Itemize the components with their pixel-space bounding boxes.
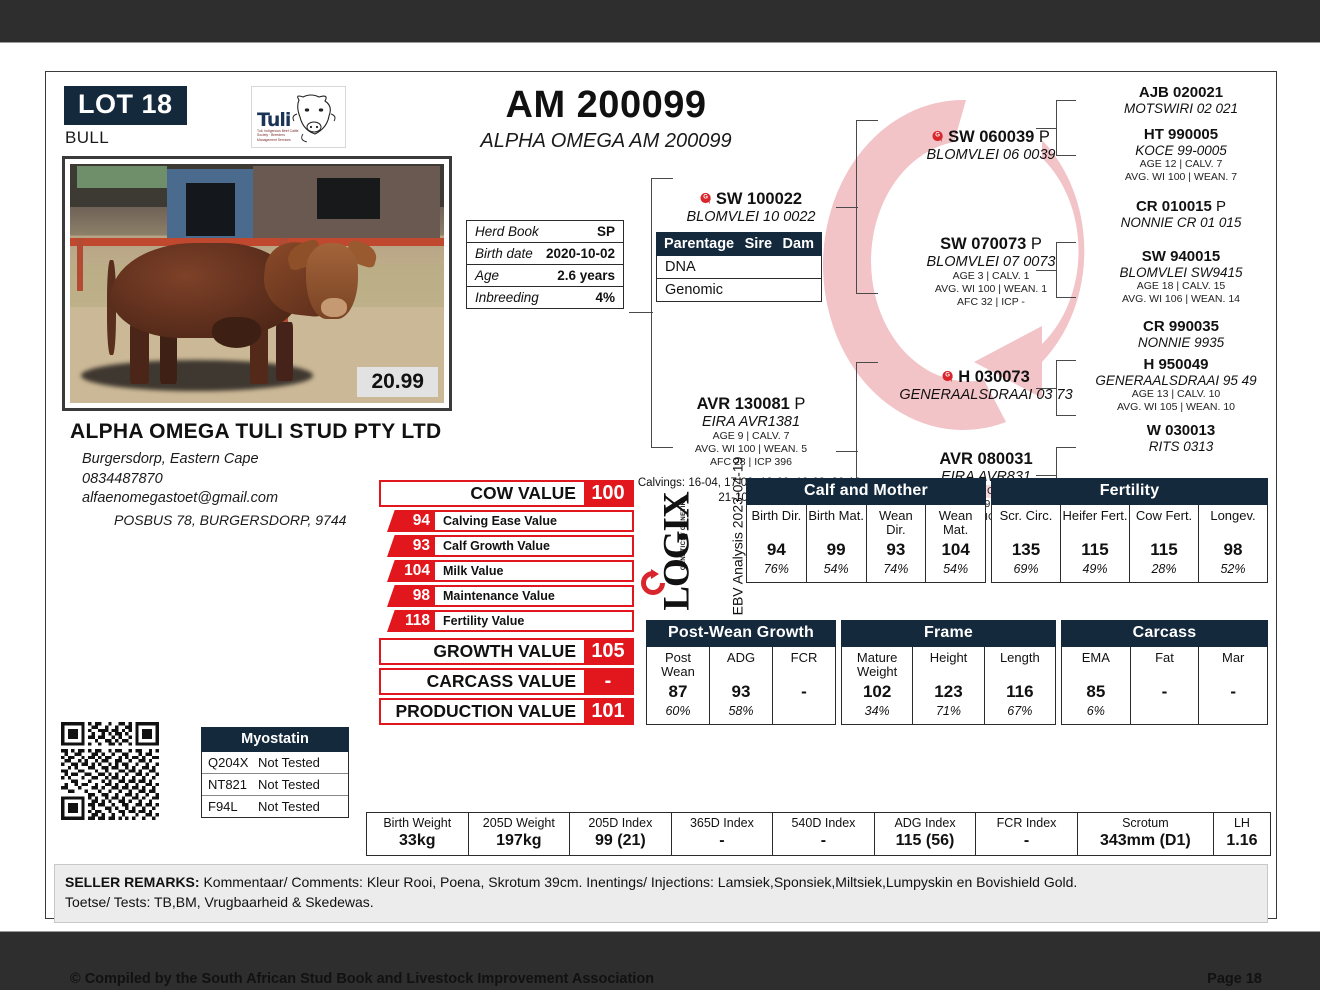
sub-value-calving-ease: 94 Calving Ease Value: [387, 510, 634, 532]
node-id: CR 010015 P: [1086, 198, 1276, 215]
node-stats: AGE 13 | CALV. 10 AVG. WI 105 | WEAN. 10: [1071, 388, 1281, 414]
ebv-col-mature-weight: Mature Weight 102 34%: [842, 647, 913, 724]
pdf-viewer: LOT 18 BULL Tuli Tuli, Indigenous Beef C…: [0, 0, 1320, 990]
node-id: W 030013: [1086, 422, 1276, 439]
ebv-group-carcass: Carcass EMA 85 6% Fat - Mar -: [1061, 620, 1268, 725]
node-name: BLOMVLEI 06 0039: [891, 147, 1091, 163]
carcass-value-label: CARCASS VALUE: [381, 670, 584, 693]
meas-col-lh: LH 1.16: [1214, 813, 1270, 855]
qr-code[interactable]: [61, 722, 159, 820]
meas-col-540d-index: 540D Index -: [773, 813, 875, 855]
marker-name: NT821: [208, 777, 258, 792]
row-value: 4%: [595, 290, 615, 305]
cow-value-label: COW VALUE: [381, 482, 584, 505]
sub-value-number: 118: [387, 610, 435, 632]
myostatin-table: Myostatin Q204X Not Tested NT821 Not Tes…: [201, 727, 349, 818]
growth-value-label: GROWTH VALUE: [381, 640, 584, 663]
ebv-col-fat: Fat -: [1131, 647, 1200, 724]
table-row: NT821 Not Tested: [202, 774, 348, 796]
tuli-logo: Tuli Tuli, Indigenous Beef Cattle Societ…: [251, 86, 346, 148]
pedigree-node-dam-sire: G T H 030073 GENERAALSDRAAI 03 73: [876, 368, 1096, 403]
cow-value-bar: COW VALUE 100: [379, 480, 634, 507]
meas-col-birth-weight: Birth Weight 33kg: [367, 813, 469, 855]
sub-value-fertility: 118 Fertility Value: [387, 610, 634, 632]
table-row: F94L Not Tested: [202, 796, 348, 817]
ebv-group-title: Post-Wean Growth: [646, 620, 836, 647]
node-name: GENERAALSDRAAI 03 73: [876, 387, 1096, 403]
node-id: G T SW 060039 P: [891, 128, 1091, 147]
row-label: Age: [475, 268, 499, 283]
animal-photo-frame: 20.99: [62, 156, 452, 411]
ebv-col-birth-dir: Birth Dir. 94 76%: [747, 505, 807, 582]
growth-value-number: 105: [584, 640, 632, 663]
parentage-sire-col: Sire: [745, 236, 772, 252]
parentage-row-genomic: Genomic: [657, 279, 821, 301]
ebv-group-title: Carcass: [1061, 620, 1268, 647]
node-stats: AGE 9 | CALV. 7 AVG. WI 100 | WEAN. 5 AF…: [636, 430, 866, 469]
svg-text:T: T: [950, 378, 954, 383]
breeder-email: alfaenomegastoet@gmail.com: [82, 489, 278, 509]
logix-ebv-date: EBV Analysis 2023-04-19: [729, 457, 745, 616]
cow-value-number: 100: [584, 482, 632, 505]
row-value: 2.6 years: [557, 268, 615, 283]
breeder-name: ALPHA OMEGA TULI STUD PTY LTD: [70, 420, 442, 444]
parentage-header: Parentage Sire Dam: [656, 232, 822, 256]
animal-photo: 20.99: [70, 164, 444, 403]
parentage-title: Parentage: [664, 236, 734, 252]
ebv-col-ema: EMA 85 6%: [1062, 647, 1131, 724]
ebv-col-mar: Mar -: [1199, 647, 1267, 724]
ebv-col-longev: Longev. 98 52%: [1199, 505, 1267, 582]
ebv-group-title: Frame: [841, 620, 1056, 647]
node-id: AJB 020021: [1086, 84, 1276, 101]
node-name: EIRA AVR1381: [636, 414, 866, 430]
pedigree-node-sire: G T SW 100022 BLOMVLEI 10 0022: [646, 190, 856, 225]
meas-col-scrotum: Scrotum 343mm (D1): [1078, 813, 1214, 855]
table-row: Inbreeding 4%: [467, 287, 623, 308]
breeder-postal-address: POSBUS 78, BURGERSDORP, 9744: [114, 512, 346, 528]
remarks-line-2: Toetse/ Tests: TB,BM, Vrugbaarheid & Ske…: [65, 892, 1257, 912]
logix-logo: LOGIX GENETICS / GENETIKA EBV Analysis 2…: [646, 472, 736, 622]
ebv-group-post-wean-growth: Post-Wean Growth Post Wean 87 60% ADG 93…: [646, 620, 836, 725]
sub-value-label: Milk Value: [435, 560, 634, 582]
myostatin-title: Myostatin: [201, 727, 349, 752]
svg-text:T: T: [940, 138, 944, 143]
carcass-value-bar: CARCASS VALUE -: [379, 668, 634, 695]
production-value-label: PRODUCTION VALUE: [381, 700, 584, 723]
sub-value-number: 94: [387, 510, 435, 532]
herd-book-table: Herd Book SP Birth date 2020-10-02 Age 2…: [466, 220, 624, 309]
node-id: SW 070073 P: [891, 235, 1091, 254]
ebv-col-heifer-fert: Heifer Fert. 115 49%: [1061, 505, 1130, 582]
row-label: Inbreeding: [475, 290, 539, 305]
row-label: Herd Book: [475, 224, 539, 239]
node-id: G T SW 100022: [646, 190, 856, 209]
ebv-col-adg: ADG 93 58%: [710, 647, 773, 724]
ebv-col-birth-mat: Birth Mat. 99 54%: [807, 505, 867, 582]
carcass-value-number: -: [584, 670, 632, 693]
meas-col-365d-index: 365D Index -: [672, 813, 774, 855]
table-row: Birth date 2020-10-02: [467, 243, 623, 265]
node-name: KOCE 99-0005: [1086, 143, 1276, 158]
animal-name: ALPHA OMEGA AM 200099: [396, 130, 816, 153]
footer-copyright: © Compiled by the South African Stud Boo…: [70, 971, 654, 987]
lot-badge: LOT 18: [64, 86, 187, 125]
ebv-col-wean-dir: Wean Dir. 93 74%: [867, 505, 927, 582]
pedigree-node-sire-dam: SW 070073 P BLOMVLEI 07 0073 AGE 3 | CAL…: [891, 235, 1091, 309]
ebv-group-fertility: Fertility Scr. Circ. 135 69% Heifer Fert…: [991, 478, 1268, 583]
meas-col-fcr-index: FCR Index -: [976, 813, 1078, 855]
meas-col-adg-index: ADG Index 115 (56): [875, 813, 977, 855]
node-name: BLOMVLEI 10 0022: [646, 209, 856, 225]
node-id: HT 990005: [1086, 126, 1276, 143]
pedigree-node-ss-sire: AJB 020021 MOTSWIRI 02 021: [1086, 84, 1276, 116]
sub-value-label: Calving Ease Value: [435, 510, 634, 532]
lot-sheet: LOT 18 BULL Tuli Tuli, Indigenous Beef C…: [45, 71, 1277, 919]
sub-value-number: 104: [387, 560, 435, 582]
sex-label: BULL: [65, 128, 109, 148]
pedigree-node-sd-sire: CR 010015 P NONNIE CR 01 015: [1086, 198, 1276, 230]
ebv-group-title: Fertility: [991, 478, 1268, 505]
node-name: NONNIE CR 01 015: [1086, 215, 1276, 230]
sub-value-label: Calf Growth Value: [435, 535, 634, 557]
node-stats: AGE 12 | CALV. 7 AVG. WI 100 | WEAN. 7: [1086, 158, 1276, 184]
node-name: BLOMVLEI SW9415: [1086, 265, 1276, 280]
sub-value-label: Maintenance Value: [435, 585, 634, 607]
logix-circle-arrow-icon: [638, 568, 668, 598]
node-id: AVR 130081 P: [636, 395, 866, 414]
ebv-col-cow-fert: Cow Fert. 115 28%: [1130, 505, 1199, 582]
ebv-group-title: Calf and Mother: [746, 478, 986, 505]
meas-col-205d-weight: 205D Weight 197kg: [469, 813, 571, 855]
pedigree-node-ds-sire: CR 990035 NONNIE 9935: [1086, 318, 1276, 350]
row-label: Birth date: [475, 246, 533, 261]
seller-remarks: SELLER REMARKS: Kommentaar/ Comments: Kl…: [54, 864, 1268, 923]
svg-text:T: T: [708, 200, 712, 205]
parentage-table: Parentage Sire Dam DNA Genomic: [656, 232, 822, 302]
node-id: AVR 080031: [886, 450, 1086, 469]
node-name: GENERAALSDRAAI 95 49: [1071, 373, 1281, 388]
sub-value-milk: 104 Milk Value: [387, 560, 634, 582]
ebv-col-height: Height 123 71%: [913, 647, 984, 724]
catalog-page: LOT 18 BULL Tuli Tuli, Indigenous Beef C…: [0, 42, 1320, 932]
ebv-col-wean-mat: Wean Mat. 104 54%: [926, 505, 985, 582]
pedigree-node-sd-dam: SW 940015 BLOMVLEI SW9415 AGE 18 | CALV.…: [1086, 248, 1276, 306]
remarks-text-1: Kommentaar/ Comments: Kleur Rooi, Poena,…: [200, 874, 1078, 890]
node-name: MOTSWIRI 02 021: [1086, 101, 1276, 116]
node-name: RITS 0313: [1086, 439, 1276, 454]
tuli-wordmark: Tuli: [257, 109, 290, 131]
breeder-contact: Burgersdorp, Eastern Cape 0834487870 alf…: [82, 450, 278, 509]
footer-page-number: Page 18: [1207, 971, 1262, 987]
node-name: BLOMVLEI 07 0073: [891, 254, 1091, 270]
ebv-col-post-wean: Post Wean 87 60%: [647, 647, 710, 724]
node-id: CR 990035: [1086, 318, 1276, 335]
logix-subtext: GENETICS / GENETIKA: [681, 496, 687, 570]
sub-value-maintenance: 98 Maintenance Value: [387, 585, 634, 607]
row-value: SP: [597, 224, 615, 239]
node-id: H 950049: [1071, 356, 1281, 373]
ebv-group-calf-and-mother: Calf and Mother Birth Dir. 94 76% Birth …: [746, 478, 986, 583]
ebv-group-frame: Frame Mature Weight 102 34% Height 123 7…: [841, 620, 1056, 725]
sub-value-number: 98: [387, 585, 435, 607]
table-row: Q204X Not Tested: [202, 752, 348, 774]
row-value: 2020-10-02: [546, 246, 615, 261]
animal-id: AM 200099: [396, 84, 816, 127]
parentage-dam-col: Dam: [783, 236, 814, 252]
gt-genomic-icon: G T: [942, 370, 955, 383]
marker-name: Q204X: [208, 755, 258, 770]
pedigree-node-sire-sire: G T SW 060039 P BLOMVLEI 06 0039: [891, 128, 1091, 163]
ebv-col-length: Length 116 67%: [985, 647, 1055, 724]
gt-genomic-icon: G T: [700, 192, 713, 205]
remarks-line-1: SELLER REMARKS: Kommentaar/ Comments: Kl…: [65, 872, 1257, 892]
table-row: Age 2.6 years: [467, 265, 623, 287]
index-values-panel: COW VALUE 100 94 Calving Ease Value 93 C…: [379, 480, 634, 728]
node-id: SW 940015: [1086, 248, 1276, 265]
remarks-title: SELLER REMARKS:: [65, 874, 200, 890]
node-stats: AGE 18 | CALV. 15 AVG. WI 106 | WEAN. 14: [1086, 280, 1276, 306]
table-row: Herd Book SP: [467, 221, 623, 243]
pedigree-node-ss-dam: HT 990005 KOCE 99-0005 AGE 12 | CALV. 7 …: [1086, 126, 1276, 184]
production-value-number: 101: [584, 700, 632, 723]
growth-value-bar: GROWTH VALUE 105: [379, 638, 634, 665]
meas-col-205d-index: 205D Index 99 (21): [570, 813, 672, 855]
gt-genomic-icon: G T: [932, 130, 945, 143]
node-stats: AGE 3 | CALV. 1 AVG. WI 100 | WEAN. 1 AF…: [891, 270, 1091, 309]
production-value-bar: PRODUCTION VALUE 101: [379, 698, 634, 725]
marker-result: Not Tested: [258, 799, 320, 814]
node-id: G T H 030073: [876, 368, 1096, 387]
measurements-table: Birth Weight 33kg 205D Weight 197kg 205D…: [366, 812, 1271, 856]
marker-name: F94L: [208, 799, 258, 814]
sub-value-number: 93: [387, 535, 435, 557]
breeder-location: Burgersdorp, Eastern Cape: [82, 450, 278, 470]
marker-result: Not Tested: [258, 755, 320, 770]
node-name: NONNIE 9935: [1086, 335, 1276, 350]
ebv-col-scr-circ: Scr. Circ. 135 69%: [992, 505, 1061, 582]
breeder-phone: 0834487870: [82, 470, 278, 490]
ebv-col-fcr: FCR -: [773, 647, 835, 724]
photo-score-tag: 20.99: [357, 367, 438, 397]
sub-value-calf-growth: 93 Calf Growth Value: [387, 535, 634, 557]
cow-head-icon: [289, 90, 341, 145]
pedigree-bracket-sire: [856, 120, 878, 294]
pedigree-node-dd-sire: W 030013 RITS 0313: [1086, 422, 1276, 454]
sub-value-label: Fertility Value: [435, 610, 634, 632]
pedigree-tick-root: [629, 312, 653, 313]
parentage-row-dna: DNA: [657, 256, 821, 279]
marker-result: Not Tested: [258, 777, 320, 792]
pedigree-node-ds-dam: H 950049 GENERAALSDRAAI 95 49 AGE 13 | C…: [1071, 356, 1281, 414]
